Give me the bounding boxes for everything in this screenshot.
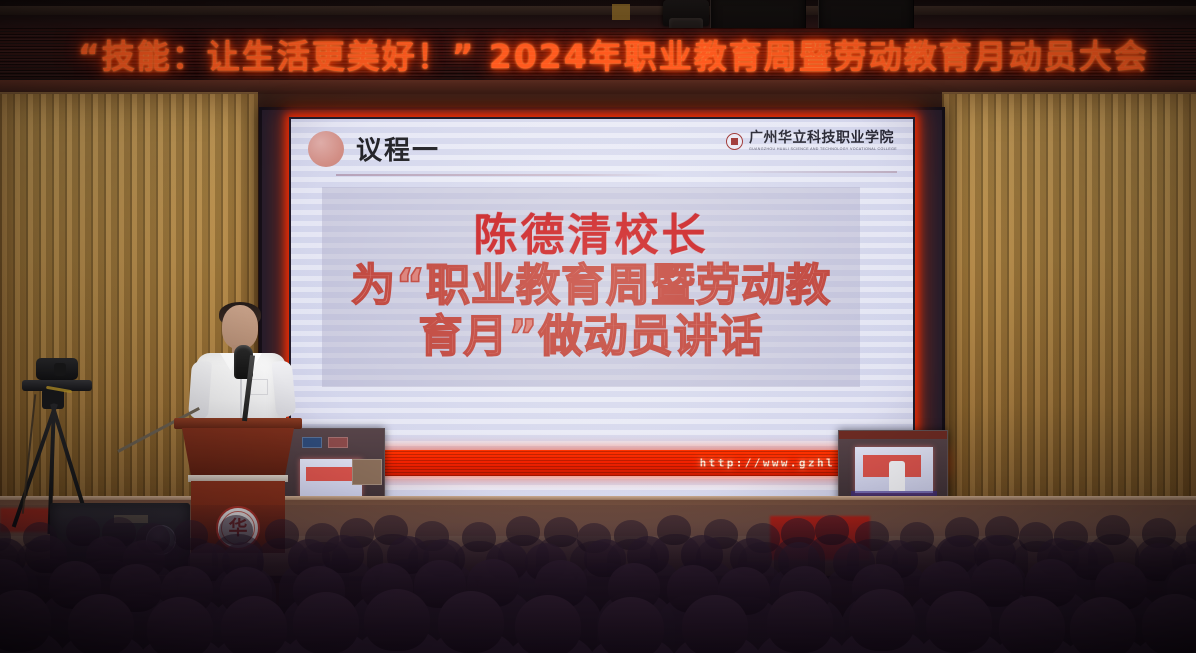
- audience-member-head: [999, 596, 1065, 653]
- audience-member-head: [364, 589, 430, 651]
- school-logo: 广州华立科技职业学院 GUANGZHOU HUALI SCIENCE AND T…: [726, 131, 897, 152]
- curtain-right: [942, 94, 1196, 524]
- filled-circle-icon: [308, 131, 344, 167]
- audience-member-head: [515, 595, 581, 653]
- audience-member-head: [598, 597, 664, 653]
- ceiling: [0, 0, 1196, 30]
- audience-member-head: [219, 515, 253, 545]
- slide-text-box: 陈德清校长 为“职业教育周暨劳动教 育月”做动员讲话: [322, 187, 860, 387]
- header-divider: [336, 174, 666, 176]
- slide-line-1: 陈德清校长: [474, 212, 709, 260]
- audience-member-head: [815, 515, 849, 545]
- audience-member-head: [682, 595, 748, 653]
- slide-header: 议程一: [308, 130, 440, 167]
- audience-member-head: [438, 591, 504, 653]
- audience-member-head: [221, 596, 287, 653]
- led-banner: “技能：让生活更美好！” 2024年职业教育周暨劳动教育月动员大会: [0, 28, 1196, 80]
- audience-member-head: [1096, 515, 1130, 545]
- audience-member-head: [1142, 594, 1196, 653]
- audience-member-head: [1070, 597, 1136, 653]
- audience-member-head: [68, 594, 134, 653]
- ticker-url: http://www.gzhl: [700, 457, 835, 470]
- school-name-en: GUANGZHOU HUALI SCIENCE AND TECHNOLOGY V…: [749, 147, 897, 152]
- audience-member-head: [926, 591, 992, 653]
- audience-member-head: [544, 517, 578, 547]
- slide-line-2: 为“职业教育周暨劳动教: [351, 261, 831, 311]
- truss-tag: [612, 4, 630, 20]
- slide-line-3: 育月”做动员讲话: [419, 312, 764, 362]
- school-crest-icon: [726, 133, 743, 150]
- led-banner-text: “技能：让生活更美好！” 2024年职业教育周暨劳动教育月动员大会: [78, 30, 1149, 78]
- audience-member-head: [849, 589, 915, 651]
- logo-divider: [717, 171, 897, 173]
- audience-member-head: [147, 597, 213, 653]
- audience-member-head: [293, 592, 359, 653]
- auditorium-scene: “技能：让生活更美好！” 2024年职业教育周暨劳动教育月动员大会 议程一 广州…: [0, 0, 1196, 653]
- truss-bar: [0, 6, 1196, 15]
- audience: [0, 505, 1196, 653]
- video-camera-icon: [36, 358, 78, 380]
- school-name-cn: 广州华立科技职业学院: [749, 131, 897, 145]
- audience-member-head: [767, 591, 833, 653]
- agenda-label: 议程一: [356, 130, 440, 167]
